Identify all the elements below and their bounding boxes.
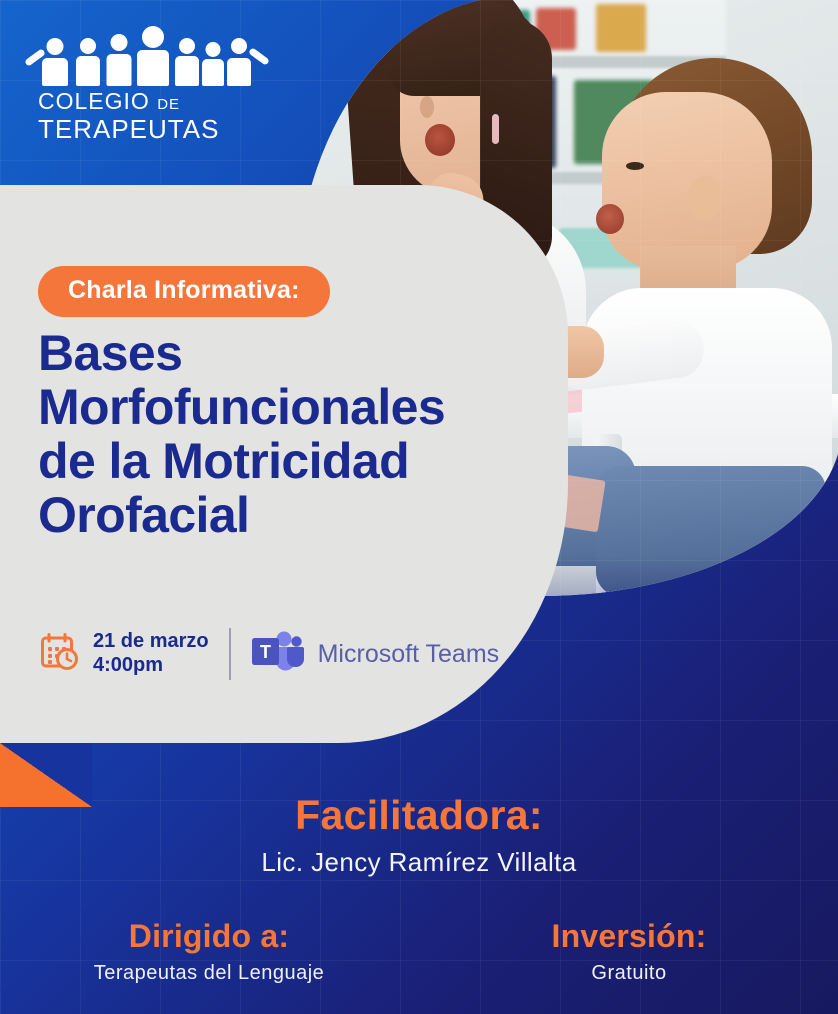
logo-figure <box>133 26 173 86</box>
title-line: Morfofuncionales <box>38 380 548 434</box>
audience-value: Terapeutas del Lenguaje <box>59 962 359 985</box>
title-line: Orofacial <box>38 488 548 542</box>
colegio-logo: COLEGIO DE TERAPEUTAS <box>38 26 248 148</box>
photo-child-mouth <box>596 204 624 234</box>
logo-figure <box>102 34 136 86</box>
poster-root: COLEGIO DE TERAPEUTAS Charla Informativa… <box>0 0 838 1014</box>
photo-child-eye <box>626 162 644 170</box>
photo-therapist-mouth <box>425 124 455 156</box>
detail-column-price: Inversión: Gratuito <box>479 918 779 985</box>
page-title: Bases Morfofuncionales de la Motricidad … <box>38 326 548 542</box>
event-meta-row: 21 de marzo 4:00pm T Microsoft Teams <box>40 628 499 680</box>
platform-label: Microsoft Teams <box>318 640 500 669</box>
logo-colegio-text: COLEGIO <box>38 88 150 114</box>
facilitator-section: Facilitadora: Lic. Jency Ramírez Villalt… <box>0 792 838 878</box>
photo-shelf-item <box>596 4 646 52</box>
facilitator-name: Lic. Jency Ramírez Villalta <box>0 847 838 878</box>
meta-divider <box>229 628 231 680</box>
charla-badge: Charla Informativa: <box>38 266 330 317</box>
logo-line-2: TERAPEUTAS <box>38 116 248 142</box>
photo-child-head <box>602 92 772 270</box>
logo-de-text: DE <box>157 96 180 113</box>
microsoft-teams-icon: T <box>251 630 305 679</box>
platform-group: T Microsoft Teams <box>251 630 500 679</box>
details-row: Dirigido a: Terapeutas del Lenguaje Inve… <box>0 918 838 985</box>
photo-therapist-earring <box>492 114 499 144</box>
logo-figure <box>222 38 256 86</box>
teams-initial: T <box>260 642 271 662</box>
logo-figure <box>71 36 105 86</box>
photo-child-ear <box>688 176 722 220</box>
title-line: Bases <box>38 326 548 380</box>
calendar-clock-icon <box>40 632 80 677</box>
date-time-text: 21 de marzo 4:00pm <box>93 630 209 677</box>
title-line: de la Motricidad <box>38 434 548 488</box>
logo-figures-icon <box>38 26 248 86</box>
event-date: 21 de marzo <box>93 630 209 654</box>
price-label: Inversión: <box>479 918 779 955</box>
audience-label: Dirigido a: <box>59 918 359 955</box>
date-time-group: 21 de marzo 4:00pm <box>40 630 209 677</box>
photo-therapist-nose <box>420 96 434 118</box>
facilitator-label: Facilitadora: <box>0 792 838 839</box>
logo-figure <box>38 38 72 86</box>
price-value: Gratuito <box>479 962 779 985</box>
event-time: 4:00pm <box>93 654 209 678</box>
logo-line-1: COLEGIO DE <box>38 90 248 113</box>
detail-column-audience: Dirigido a: Terapeutas del Lenguaje <box>59 918 359 985</box>
